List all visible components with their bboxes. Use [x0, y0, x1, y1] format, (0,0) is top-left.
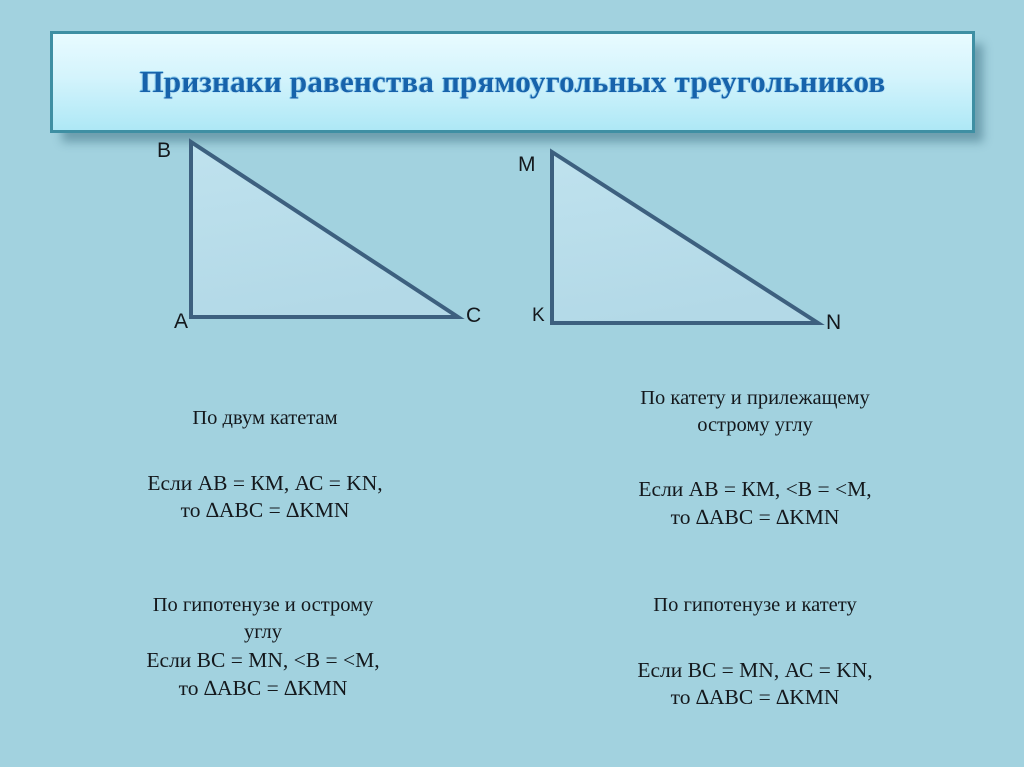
page-title: Признаки равенства прямоугольных треугол… [140, 64, 886, 100]
criterion-hypotenuse-leg-line2: то ∆ABC = ∆KMN [540, 684, 970, 712]
slide-canvas: Признаки равенства прямоугольных треугол… [0, 0, 1024, 767]
criterion-two-legs-line2: то ∆ABC = ∆KMN [55, 497, 475, 525]
vertex-label-n: N [826, 312, 841, 333]
criterion-two-legs: По двум катетам Если АВ = КМ, АС = KN, т… [55, 405, 475, 525]
criterion-hypotenuse-leg-title: По гипотенузе и катету [540, 592, 970, 619]
criterion-hypotenuse-acute-angle: По гипотенузе и острому углу Если ВС = M… [48, 592, 478, 702]
title-banner: Признаки равенства прямоугольных треугол… [50, 31, 975, 133]
criterion-hypotenuse-acute-angle-title-line1: По гипотенузе и острому [48, 592, 478, 619]
criterion-hypotenuse-leg-line1: Если ВС = MN, АС = KN, [540, 657, 970, 685]
spacer [540, 619, 970, 657]
criterion-leg-adjacent-angle-title-line2: острому углу [545, 412, 965, 439]
criterion-hypotenuse-acute-angle-title-line2: углу [48, 619, 478, 646]
criterion-hypotenuse-acute-angle-line1: Если ВС = MN, <В = <М, [48, 647, 478, 675]
criterion-leg-adjacent-angle-line2: то ∆ABC = ∆KMN [545, 504, 965, 532]
criterion-two-legs-title: По двум катетам [55, 405, 475, 432]
spacer [545, 438, 965, 476]
criterion-leg-adjacent-angle-line1: Если АВ = КМ, <В = <М, [545, 476, 965, 504]
criterion-leg-adjacent-angle-title-line1: По катету и прилежащему [545, 385, 965, 412]
criterion-two-legs-line1: Если АВ = КМ, АС = KN, [55, 470, 475, 498]
vertex-label-k: K [532, 306, 545, 325]
spacer [55, 432, 475, 470]
vertex-label-c: C [466, 305, 481, 326]
vertex-label-m: M [518, 154, 536, 175]
triangle-kmn-shape [552, 152, 818, 323]
vertex-label-b: B [157, 140, 171, 161]
criterion-hypotenuse-acute-angle-line2: то ∆ABC = ∆KMN [48, 675, 478, 703]
triangle-abc-shape [191, 142, 458, 317]
criterion-leg-adjacent-angle: По катету и прилежащему острому углу Есл… [545, 385, 965, 531]
criterion-hypotenuse-leg: По гипотенузе и катету Если ВС = MN, АС … [540, 592, 970, 712]
vertex-label-a: A [174, 311, 188, 332]
